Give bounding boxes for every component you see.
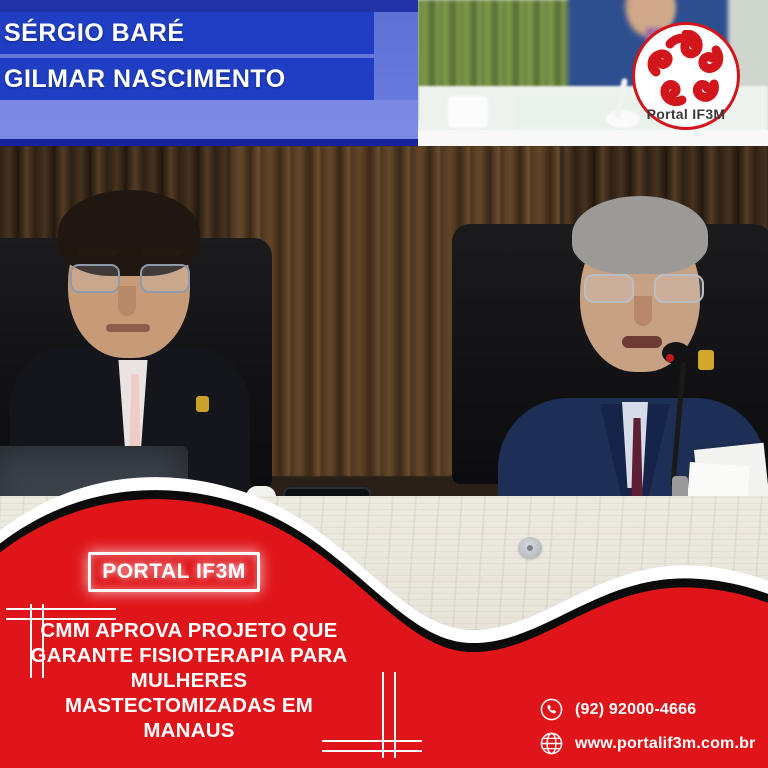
right-mouth xyxy=(622,336,662,348)
headline-line-3: MULHERES xyxy=(18,668,360,693)
social-media-news-card: SÉRGIO BARÉ GILMAR NASCIMENTO xyxy=(0,0,768,768)
screen-name-row-1: SÉRGIO BARÉ xyxy=(0,12,374,54)
left-nose xyxy=(118,286,136,316)
left-eyebrow-1 xyxy=(78,250,118,256)
feed-desk-object xyxy=(448,96,488,128)
screen-name-row-2: GILMAR NASCIMENTO xyxy=(0,58,374,100)
phone-icon xyxy=(540,698,563,721)
right-nose xyxy=(634,296,652,326)
headline-line-5: MANAUS xyxy=(18,718,360,743)
projection-screen-strip: SÉRGIO BARÉ GILMAR NASCIMENTO xyxy=(0,0,768,146)
headline: CMM APROVA PROJETO QUE GARANTE FISIOTERA… xyxy=(18,618,360,743)
globe-icon xyxy=(540,732,563,755)
logo-wordmark: Portal IF3M xyxy=(624,106,748,122)
screen-name-label-1: SÉRGIO BARÉ xyxy=(0,19,185,48)
contact-website-row[interactable]: www.portalif3m.com.br xyxy=(540,732,768,755)
right-lapel-pin xyxy=(698,350,714,370)
phone-number: (92) 92000-4666 xyxy=(575,701,696,719)
screen-name-label-2: GILMAR NASCIMENTO xyxy=(0,65,286,94)
screen-bottom-band xyxy=(0,139,420,146)
left-mouth xyxy=(106,324,150,332)
headline-line-2: GARANTE FISIOTERAPIA PARA xyxy=(18,643,360,668)
headline-line-1: CMM APROVA PROJETO QUE xyxy=(18,618,360,643)
portal-badge[interactable]: PORTAL IF3M xyxy=(88,552,260,592)
voting-panel-screen: SÉRGIO BARÉ GILMAR NASCIMENTO xyxy=(0,0,420,146)
council-session-photo: Manaus SOLARVOLTZ VER. DAVID REIS xyxy=(0,146,768,496)
left-lapel-pin xyxy=(196,396,209,412)
screen-top-band xyxy=(0,0,420,12)
right-hair xyxy=(572,196,708,274)
portal-if3m-logo[interactable]: Portal IF3M xyxy=(624,14,748,138)
contact-block: (92) 92000-4666 www.portalif3m.com.br xyxy=(540,698,768,766)
logo-swirl-star-icon xyxy=(644,30,728,108)
left-eyebrow-2 xyxy=(142,250,182,256)
headline-line-4: MASTECTOMIZADAS EM xyxy=(18,693,360,718)
portal-badge-label: PORTAL IF3M xyxy=(102,560,246,584)
microphone-indicator-light xyxy=(666,354,674,362)
website-url: www.portalif3m.com.br xyxy=(575,735,756,753)
contact-phone-row[interactable]: (92) 92000-4666 xyxy=(540,698,768,721)
